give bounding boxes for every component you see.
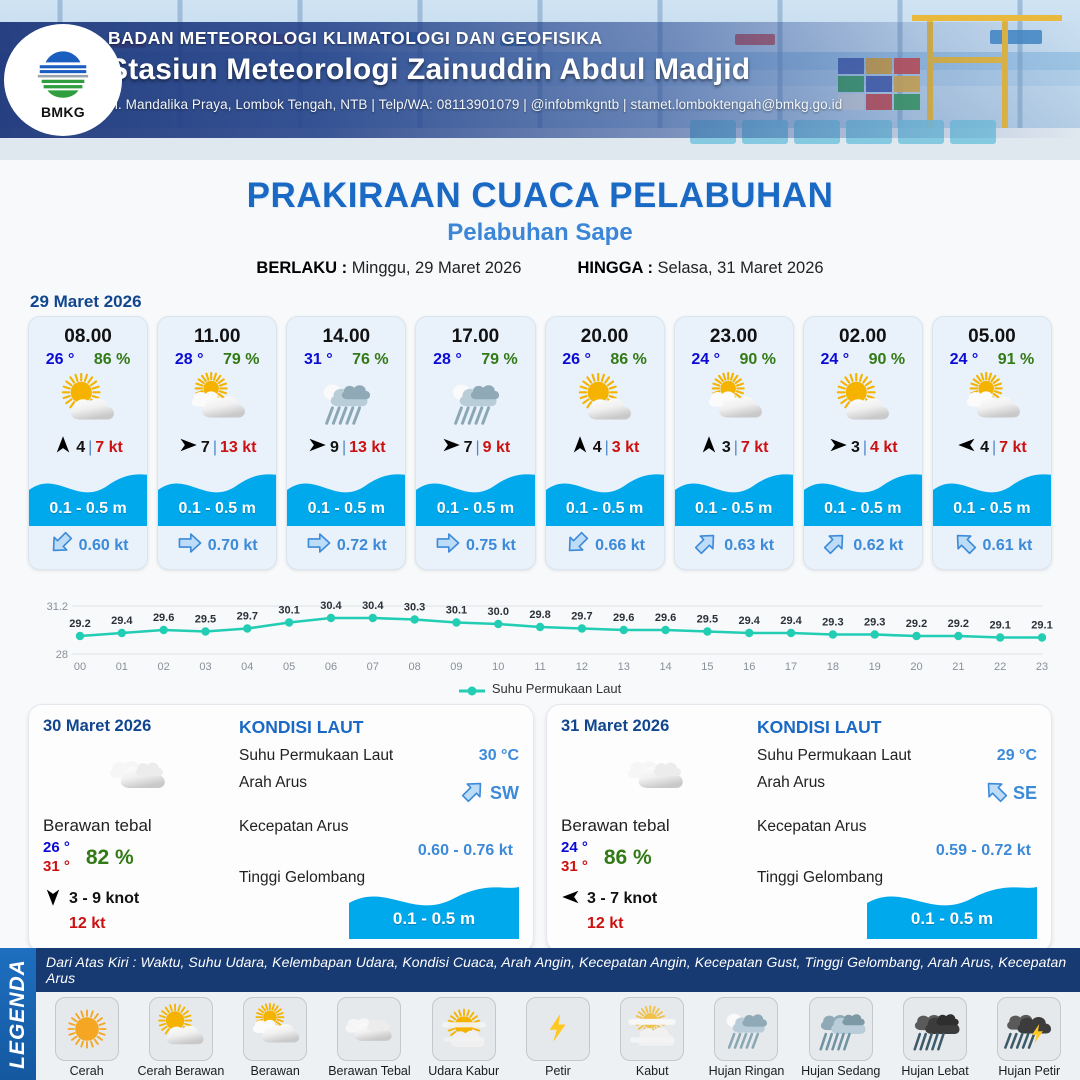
svg-text:30.4: 30.4 <box>362 600 384 612</box>
gust-speed: 9 kt <box>483 439 511 457</box>
forecast-card[interactable]: 08.00 26 ° 86 % 4 | 7 kt 0.1 - 0.5 m 0.6… <box>28 316 148 570</box>
svg-text:21: 21 <box>952 661 964 673</box>
svg-text:15: 15 <box>701 661 713 673</box>
wind-speed: 4 <box>76 439 85 457</box>
forecast-temp-humidity: 28 ° 79 % <box>416 348 534 369</box>
current-direction-arrow-icon <box>177 530 203 561</box>
daily-date: 31 Maret 2026 <box>561 717 751 736</box>
wind-row: 3 | 4 kt <box>804 433 922 464</box>
wind-speed: 3 <box>722 439 731 457</box>
svg-text:29.1: 29.1 <box>989 620 1010 632</box>
current-direction-arrow-icon <box>952 530 978 561</box>
daily-humidity: 82 % <box>86 846 134 870</box>
wind-separator: | <box>734 439 738 457</box>
page-header: BMKG BADAN METEOROLOGI KLIMATOLOGI DAN G… <box>0 0 1080 160</box>
wind-row: 4 | 7 kt <box>933 433 1051 464</box>
humidity: 90 % <box>740 351 776 369</box>
current-row: 0.75 kt <box>416 526 534 569</box>
wind-direction-arrow-icon <box>957 435 977 460</box>
current-speed: 0.66 kt <box>595 537 645 555</box>
legend-item-label: Berawan <box>250 1064 299 1078</box>
current-direction-arrow-icon <box>822 530 848 561</box>
wave-graphic: 0.1 - 0.5 m <box>675 464 793 526</box>
forecast-card[interactable]: 14.00 31 ° 76 % 9 | 13 kt 0.1 - 0.5 m 0.… <box>286 316 406 570</box>
daily-wave-value: 0.1 - 0.5 m <box>349 909 519 929</box>
daily-wave-graphic: 0.1 - 0.5 m <box>867 877 1037 939</box>
svg-text:20: 20 <box>910 661 922 673</box>
svg-text:28: 28 <box>56 649 68 661</box>
forecast-card[interactable]: 17.00 28 ° 79 % 7 | 9 kt 0.1 - 0.5 m 0.7… <box>415 316 535 570</box>
legend-item: Hujan Petir <box>985 997 1074 1078</box>
wind-row: 4 | 7 kt <box>29 433 147 464</box>
svg-text:14: 14 <box>659 661 671 673</box>
chart-legend-marker-icon <box>459 684 485 694</box>
valid-until-label: HINGGA : <box>577 259 652 277</box>
svg-text:19: 19 <box>869 661 881 673</box>
sst-label: Suhu Permukaan Laut <box>757 747 911 765</box>
wind-direction-arrow-icon <box>828 435 848 460</box>
wave-graphic: 0.1 - 0.5 m <box>804 464 922 526</box>
forecast-time: 05.00 <box>933 317 1051 348</box>
daily-left: 31 Maret 2026 Berawan tebal 24 ° 31 ° 86… <box>561 717 751 941</box>
current-speed: 0.62 kt <box>853 537 903 555</box>
wave-height: 0.1 - 0.5 m <box>675 500 793 518</box>
daily-temp-humidity: 24 ° 31 ° 86 % <box>561 839 751 877</box>
hujan-petir-icon <box>997 997 1061 1061</box>
header-text-block: BADAN METEOROLOGI KLIMATOLOGI DAN GEOFIS… <box>108 28 1068 112</box>
forecast-time: 02.00 <box>804 317 922 348</box>
svg-text:29.1: 29.1 <box>1031 620 1052 632</box>
current-row: 0.63 kt <box>675 526 793 569</box>
daily-gust: 12 kt <box>587 915 751 933</box>
legend-item-label: Hujan Ringan <box>709 1064 785 1078</box>
wave-graphic: 0.1 - 0.5 m <box>158 464 276 526</box>
gust-speed: 7 kt <box>741 439 769 457</box>
humidity: 79 % <box>481 351 517 369</box>
svg-text:30.1: 30.1 <box>278 605 299 617</box>
cerah-berawan-icon <box>804 371 922 433</box>
current-speed-value: 0.59 - 0.72 kt <box>757 842 1031 860</box>
humidity: 86 % <box>94 351 130 369</box>
legend-item-label: Hujan Sedang <box>801 1064 880 1078</box>
svg-text:10: 10 <box>492 661 504 673</box>
svg-text:29.4: 29.4 <box>111 615 133 627</box>
legend-item: Hujan Lebat <box>890 997 979 1078</box>
wave-graphic: 0.1 - 0.5 m <box>287 464 405 526</box>
wind-separator: | <box>476 439 480 457</box>
berawan-tebal-icon <box>43 742 233 806</box>
legend-item-label: Kabut <box>636 1064 669 1078</box>
hujan-sedang-icon <box>809 997 873 1061</box>
wind-direction-arrow-icon <box>43 887 63 912</box>
current-row: 0.70 kt <box>158 526 276 569</box>
svg-text:30.4: 30.4 <box>320 600 342 612</box>
forecast-card[interactable]: 11.00 28 ° 79 % 7 | 13 kt 0.1 - 0.5 m 0.… <box>157 316 277 570</box>
air-temperature: 28 ° <box>433 351 462 369</box>
svg-text:29.4: 29.4 <box>780 615 802 627</box>
wind-row: 4 | 3 kt <box>546 433 664 464</box>
wind-speed: 4 <box>593 439 602 457</box>
air-temperature: 26 ° <box>562 351 591 369</box>
svg-text:29.5: 29.5 <box>195 614 216 626</box>
wind-speed: 4 <box>980 439 989 457</box>
humidity: 91 % <box>998 351 1034 369</box>
udara-kabur-icon <box>432 997 496 1061</box>
svg-text:07: 07 <box>367 661 379 673</box>
legend-item: Cerah Berawan <box>136 997 225 1078</box>
current-speed: 0.75 kt <box>466 537 516 555</box>
wave-height: 0.1 - 0.5 m <box>158 500 276 518</box>
forecast-card[interactable]: 05.00 24 ° 91 % 4 | 7 kt 0.1 - 0.5 m 0.6… <box>932 316 1052 570</box>
current-speed: 0.72 kt <box>337 537 387 555</box>
svg-text:11: 11 <box>534 661 545 673</box>
wave-graphic: 0.1 - 0.5 m <box>416 464 534 526</box>
current-row: 0.61 kt <box>933 526 1051 569</box>
bmkg-logo-icon <box>32 41 94 103</box>
svg-text:29.5: 29.5 <box>697 614 718 626</box>
cerah-icon <box>55 997 119 1061</box>
wind-row: 7 | 13 kt <box>158 433 276 464</box>
svg-text:29.3: 29.3 <box>822 617 843 629</box>
svg-text:01: 01 <box>116 661 128 673</box>
valid-from: BERLAKU : Minggu, 29 Maret 2026 <box>256 259 521 278</box>
legend-item-label: Hujan Petir <box>998 1064 1060 1078</box>
wave-graphic: 0.1 - 0.5 m <box>546 464 664 526</box>
current-direction-arrow-icon <box>564 530 590 561</box>
current-direction-arrow-icon <box>693 530 719 561</box>
kabut-icon <box>620 997 684 1061</box>
air-temperature: 31 ° <box>304 351 333 369</box>
legend-item: Berawan <box>231 997 320 1078</box>
legend-item-label: Petir <box>545 1064 571 1078</box>
wave-graphic: 0.1 - 0.5 m <box>933 464 1051 526</box>
daily-wind-range: 3 - 9 knot <box>69 890 139 908</box>
svg-text:12: 12 <box>576 661 588 673</box>
forecast-card[interactable]: 23.00 24 ° 90 % 3 | 7 kt 0.1 - 0.5 m 0.6… <box>674 316 794 570</box>
gust-speed: 7 kt <box>95 439 123 457</box>
hujan-ringan-icon <box>287 371 405 433</box>
valid-until-value: Selasa, 31 Maret 2026 <box>658 259 824 277</box>
svg-text:29.3: 29.3 <box>864 617 885 629</box>
current-speed: 0.60 kt <box>79 537 129 555</box>
humidity: 86 % <box>610 351 646 369</box>
forecast-temp-humidity: 26 ° 86 % <box>29 348 147 369</box>
legend-item: Hujan Sedang <box>796 997 885 1078</box>
legend-item: Hujan Ringan <box>702 997 791 1078</box>
hujan-lebat-icon <box>903 997 967 1061</box>
daily-date: 30 Maret 2026 <box>43 717 233 736</box>
wind-row: 7 | 9 kt <box>416 433 534 464</box>
current-row: 0.72 kt <box>287 526 405 569</box>
berawan-icon <box>675 371 793 433</box>
gust-speed: 7 kt <box>999 439 1027 457</box>
current-speed: 0.63 kt <box>724 537 774 555</box>
svg-text:29.2: 29.2 <box>948 618 969 630</box>
legend-item-label: Berawan Tebal <box>328 1064 410 1078</box>
current-row: 0.66 kt <box>546 526 664 569</box>
berawan-tebal-icon <box>561 742 751 806</box>
current-direction-value: SW <box>490 783 519 804</box>
daily-temp-max: 31 ° <box>561 858 588 877</box>
wind-speed: 3 <box>851 439 860 457</box>
validity-row: BERLAKU : Minggu, 29 Maret 2026 HINGGA :… <box>0 259 1080 278</box>
legend-item-list: Cerah Cerah Berawan Berawan Berawan Teba… <box>36 992 1080 1080</box>
cerah-berawan-icon <box>149 997 213 1061</box>
forecast-time: 08.00 <box>29 317 147 348</box>
wind-direction-arrow-icon <box>441 435 461 460</box>
svg-text:31.2: 31.2 <box>47 601 68 613</box>
air-temperature: 26 ° <box>46 351 75 369</box>
current-direction-arrow-icon <box>983 778 1009 809</box>
forecast-temp-humidity: 26 ° 86 % <box>546 348 664 369</box>
forecast-time: 14.00 <box>287 317 405 348</box>
berawan-icon <box>243 997 307 1061</box>
current-direction-arrow-icon <box>460 778 486 809</box>
svg-text:30.0: 30.0 <box>488 606 509 618</box>
forecast-temp-humidity: 24 ° 91 % <box>933 348 1051 369</box>
current-speed: 0.70 kt <box>208 537 258 555</box>
forecast-card[interactable]: 20.00 26 ° 86 % 4 | 3 kt 0.1 - 0.5 m 0.6… <box>545 316 665 570</box>
forecast-card-list: 08.00 26 ° 86 % 4 | 7 kt 0.1 - 0.5 m 0.6… <box>0 316 1080 570</box>
daily-gust: 12 kt <box>69 915 233 933</box>
forecast-card[interactable]: 02.00 24 ° 90 % 3 | 4 kt 0.1 - 0.5 m 0.6… <box>803 316 923 570</box>
daily-temp-range: 26 ° 31 ° <box>43 839 70 877</box>
title-block: PRAKIRAAN CUACA PELABUHAN Pelabuhan Sape… <box>0 160 1080 278</box>
svg-text:02: 02 <box>158 661 170 673</box>
air-temperature: 28 ° <box>175 351 204 369</box>
daily-humidity: 86 % <box>604 846 652 870</box>
sst-chart-svg: 31.22829.20029.40129.60229.50329.70430.1… <box>24 580 1056 676</box>
forecast-temp-humidity: 31 ° 76 % <box>287 348 405 369</box>
legend-item-label: Cerah <box>70 1064 104 1078</box>
daily-wave-graphic: 0.1 - 0.5 m <box>349 877 519 939</box>
gust-speed: 13 kt <box>220 439 256 457</box>
current-direction-arrow-icon <box>306 530 332 561</box>
legend-item: Berawan Tebal <box>325 997 414 1078</box>
daily-condition: Berawan tebal <box>561 816 751 836</box>
wind-direction-arrow-icon <box>699 435 719 460</box>
current-direction-value: SE <box>1013 783 1037 804</box>
wind-separator: | <box>605 439 609 457</box>
legend-item-label: Cerah Berawan <box>137 1064 224 1078</box>
wind-direction-arrow-icon <box>570 435 590 460</box>
gust-speed: 4 kt <box>870 439 898 457</box>
svg-text:18: 18 <box>827 661 839 673</box>
agency-name: BADAN METEOROLOGI KLIMATOLOGI DAN GEOFIS… <box>108 28 1068 49</box>
page-title: PRAKIRAAN CUACA PELABUHAN <box>0 176 1080 216</box>
forecast-time: 23.00 <box>675 317 793 348</box>
forecast-temp-humidity: 28 ° 79 % <box>158 348 276 369</box>
forecast-date-label: 29 Maret 2026 <box>30 292 1080 312</box>
sst-row: Suhu Permukaan Laut 29 °C <box>757 747 1037 765</box>
gust-speed: 3 kt <box>612 439 640 457</box>
svg-text:29.2: 29.2 <box>906 618 927 630</box>
forecast-temp-humidity: 24 ° 90 % <box>675 348 793 369</box>
sst-chart: 31.22829.20029.40129.60229.50329.70430.1… <box>0 580 1080 680</box>
wave-height: 0.1 - 0.5 m <box>546 500 664 518</box>
cerah-berawan-icon <box>29 371 147 433</box>
humidity: 76 % <box>352 351 388 369</box>
svg-text:29.6: 29.6 <box>655 612 676 624</box>
legend-item-label: Hujan Lebat <box>901 1064 968 1078</box>
legend-item: Kabut <box>608 997 697 1078</box>
current-direction-row: Arah Arus SW <box>239 774 519 809</box>
wind-separator: | <box>992 439 996 457</box>
svg-text:23: 23 <box>1036 661 1048 673</box>
sea-condition-block: KONDISI LAUT Suhu Permukaan Laut 30 °C A… <box>233 717 519 941</box>
wind-separator: | <box>342 439 346 457</box>
legend-content: Dari Atas Kiri : Waktu, Suhu Udara, Kele… <box>36 948 1080 1080</box>
wave-height: 0.1 - 0.5 m <box>287 500 405 518</box>
bmkg-logo: BMKG <box>4 24 122 136</box>
svg-text:08: 08 <box>408 661 420 673</box>
sst-row: Suhu Permukaan Laut 30 °C <box>239 747 519 765</box>
legend-item: Udara Kabur <box>419 997 508 1078</box>
wind-separator: | <box>863 439 867 457</box>
svg-text:29.6: 29.6 <box>613 612 634 624</box>
wind-direction-arrow-icon <box>307 435 327 460</box>
daily-forecast-panel[interactable]: 30 Maret 2026 Berawan tebal 26 ° 31 ° 82… <box>28 704 534 952</box>
wind-direction-arrow-icon <box>561 887 581 912</box>
wind-speed: 9 <box>330 439 339 457</box>
valid-from-value: Minggu, 29 Maret 2026 <box>352 259 522 277</box>
svg-text:29.7: 29.7 <box>237 611 258 623</box>
wind-speed: 7 <box>464 439 473 457</box>
forecast-time: 20.00 <box>546 317 664 348</box>
svg-text:30.3: 30.3 <box>404 602 425 614</box>
svg-text:17: 17 <box>785 661 797 673</box>
hujan-ringan-icon <box>416 371 534 433</box>
air-temperature: 24 ° <box>691 351 720 369</box>
legend-item: Cerah <box>42 997 131 1078</box>
wave-height: 0.1 - 0.5 m <box>416 500 534 518</box>
svg-text:05: 05 <box>283 661 295 673</box>
daily-wind-row: 3 - 7 knot <box>561 887 751 912</box>
legend-section: LEGENDA Dari Atas Kiri : Waktu, Suhu Uda… <box>0 948 1080 1080</box>
petir-icon <box>526 997 590 1061</box>
wave-height: 0.1 - 0.5 m <box>804 500 922 518</box>
daily-temp-range: 24 ° 31 ° <box>561 839 588 877</box>
sst-value: 29 °C <box>997 747 1037 765</box>
sst-value: 30 °C <box>479 747 519 765</box>
forecast-time: 11.00 <box>158 317 276 348</box>
daily-temp-humidity: 26 ° 31 ° 82 % <box>43 839 233 877</box>
svg-text:03: 03 <box>199 661 211 673</box>
current-direction-row: Arah Arus SE <box>757 774 1037 809</box>
hujan-ringan-icon <box>714 997 778 1061</box>
current-speed-value: 0.60 - 0.76 kt <box>239 842 513 860</box>
wind-speed: 7 <box>201 439 210 457</box>
daily-temp-min: 26 ° <box>43 839 70 858</box>
svg-text:29.6: 29.6 <box>153 612 174 624</box>
sst-label: Suhu Permukaan Laut <box>239 747 393 765</box>
daily-temp-max: 31 ° <box>43 858 70 877</box>
svg-text:29.2: 29.2 <box>69 618 90 630</box>
wind-direction-arrow-icon <box>53 435 73 460</box>
svg-text:06: 06 <box>325 661 337 673</box>
current-speed-label: Kecepatan Arus <box>757 818 1037 836</box>
berawan-icon <box>933 371 1051 433</box>
svg-text:29.4: 29.4 <box>739 615 761 627</box>
wind-row: 3 | 7 kt <box>675 433 793 464</box>
valid-from-label: BERLAKU : <box>256 259 347 277</box>
gust-speed: 13 kt <box>349 439 385 457</box>
wave-height: 0.1 - 0.5 m <box>933 500 1051 518</box>
berawan-tebal-icon <box>337 997 401 1061</box>
station-name: Stasiun Meteorologi Zainuddin Abdul Madj… <box>108 53 1068 87</box>
chart-legend-label: Suhu Permukaan Laut <box>492 681 621 696</box>
current-direction-arrow-icon <box>435 530 461 561</box>
current-row: 0.60 kt <box>29 526 147 569</box>
current-direction-label: Arah Arus <box>757 774 825 792</box>
wind-separator: | <box>213 439 217 457</box>
current-speed: 0.61 kt <box>983 537 1033 555</box>
sea-condition-block: KONDISI LAUT Suhu Permukaan Laut 29 °C A… <box>751 717 1037 941</box>
forecast-temp-humidity: 24 ° 90 % <box>804 348 922 369</box>
svg-text:29.7: 29.7 <box>571 611 592 623</box>
current-direction-value-group: SW <box>460 778 519 809</box>
air-temperature: 24 ° <box>950 351 979 369</box>
daily-wave-value: 0.1 - 0.5 m <box>867 909 1037 929</box>
current-direction-value-group: SE <box>983 778 1037 809</box>
chart-legend: Suhu Permukaan Laut <box>0 681 1080 696</box>
current-direction-arrow-icon <box>48 530 74 561</box>
daily-wind-range: 3 - 7 knot <box>587 890 657 908</box>
daily-left: 30 Maret 2026 Berawan tebal 26 ° 31 ° 82… <box>43 717 233 941</box>
legend-title: LEGENDA <box>6 959 30 1069</box>
current-speed-label: Kecepatan Arus <box>239 818 519 836</box>
air-temperature: 24 ° <box>821 351 850 369</box>
wave-graphic: 0.1 - 0.5 m <box>29 464 147 526</box>
svg-text:22: 22 <box>994 661 1006 673</box>
legend-sidebar: LEGENDA <box>0 948 36 1080</box>
wind-row: 9 | 13 kt <box>287 433 405 464</box>
current-direction-label: Arah Arus <box>239 774 307 792</box>
humidity: 90 % <box>869 351 905 369</box>
svg-text:13: 13 <box>618 661 630 673</box>
svg-text:09: 09 <box>450 661 462 673</box>
berawan-icon <box>158 371 276 433</box>
wave-height: 0.1 - 0.5 m <box>29 500 147 518</box>
daily-temp-min: 24 ° <box>561 839 588 858</box>
daily-forecast-panel[interactable]: 31 Maret 2026 Berawan tebal 24 ° 31 ° 86… <box>546 704 1052 952</box>
valid-until: HINGGA : Selasa, 31 Maret 2026 <box>577 259 823 278</box>
svg-text:00: 00 <box>74 661 86 673</box>
wind-separator: | <box>88 439 92 457</box>
svg-text:30.1: 30.1 <box>446 605 467 617</box>
sea-condition-title: KONDISI LAUT <box>239 717 519 738</box>
port-name: Pelabuhan Sape <box>0 219 1080 247</box>
forecast-time: 17.00 <box>416 317 534 348</box>
contact-line: Jl. Mandalika Praya, Lombok Tengah, NTB … <box>108 97 1068 112</box>
legend-item: Petir <box>513 997 602 1078</box>
current-row: 0.62 kt <box>804 526 922 569</box>
daily-panel-list: 30 Maret 2026 Berawan tebal 26 ° 31 ° 82… <box>0 696 1080 952</box>
svg-text:16: 16 <box>743 661 755 673</box>
bmkg-logo-text: BMKG <box>41 104 85 120</box>
daily-wind-row: 3 - 9 knot <box>43 887 233 912</box>
svg-text:29.8: 29.8 <box>529 609 550 621</box>
wind-direction-arrow-icon <box>178 435 198 460</box>
daily-condition: Berawan tebal <box>43 816 233 836</box>
legend-note: Dari Atas Kiri : Waktu, Suhu Udara, Kele… <box>36 948 1080 992</box>
sea-condition-title: KONDISI LAUT <box>757 717 1037 738</box>
cerah-berawan-icon <box>546 371 664 433</box>
humidity: 79 % <box>223 351 259 369</box>
legend-item-label: Udara Kabur <box>428 1064 499 1078</box>
svg-text:04: 04 <box>241 661 253 673</box>
